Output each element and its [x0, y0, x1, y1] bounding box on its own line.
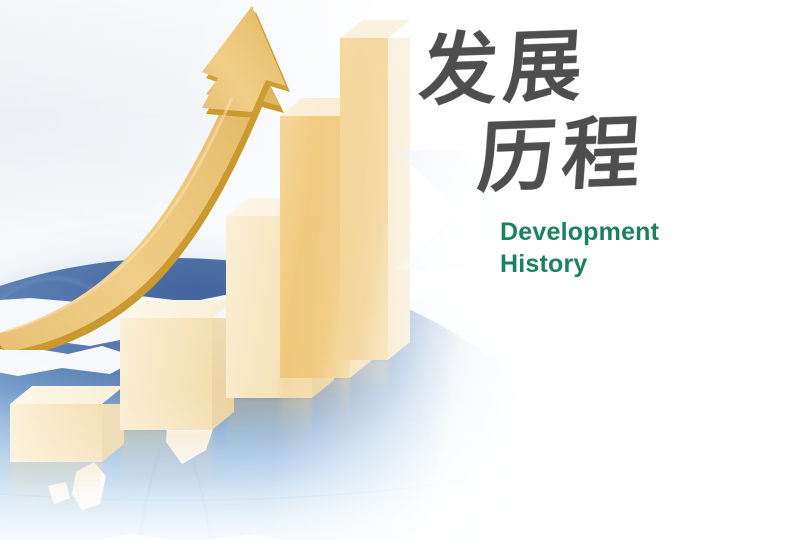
english-title-line-2: History [500, 248, 720, 280]
chinese-title-line-2: 历程 [475, 112, 723, 198]
title-block: 发展 历程 Development History [420, 28, 720, 280]
english-title-line-1: Development [500, 216, 720, 248]
chinese-title-line-1: 发展 [417, 23, 723, 111]
development-history-banner: 发展 历程 Development History [0, 0, 800, 540]
english-title: Development History [500, 216, 720, 280]
